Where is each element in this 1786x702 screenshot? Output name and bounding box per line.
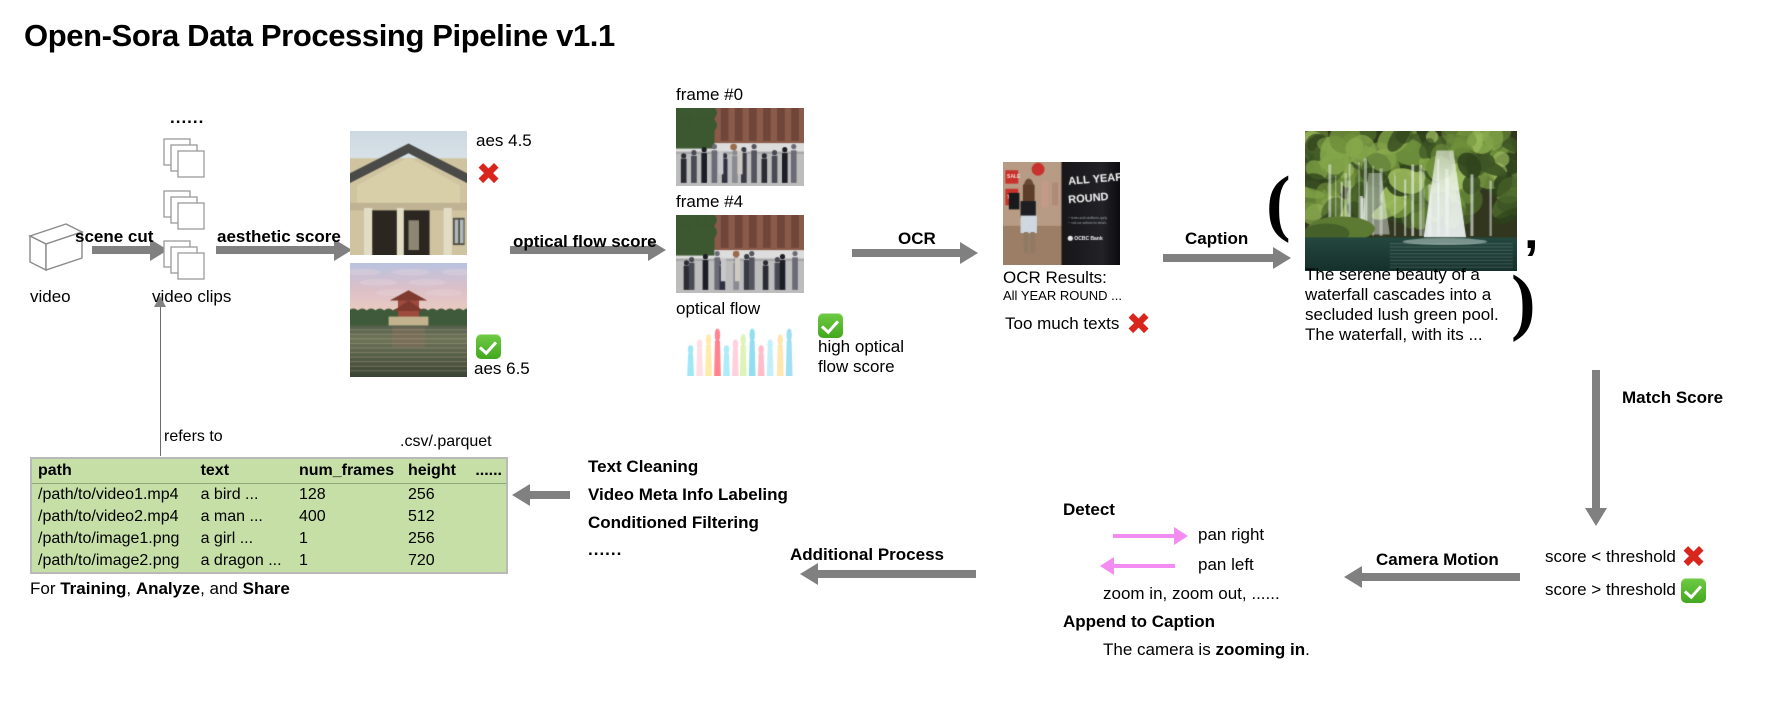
table-row[interactable]: /path/to/image1.png a girl ... 1 256 <box>32 528 506 550</box>
caption-image <box>1305 131 1517 271</box>
frame0-image <box>676 108 804 186</box>
x-mark-icon: ✖ <box>1126 310 1151 340</box>
append-prefix: The camera is <box>1103 640 1215 659</box>
optical-flow-score-label: optical flow score <box>513 232 657 252</box>
check-mark-icon <box>1681 578 1706 603</box>
footer-prefix: For <box>30 579 60 598</box>
col-path: path <box>32 459 195 484</box>
pan-left-arrow-icon <box>1113 564 1175 568</box>
cell-text: a man ... <box>195 506 293 528</box>
high-flow-label-line1: high optical <box>818 337 904 357</box>
cell-text: a bird ... <box>195 484 293 507</box>
refers-to-line <box>160 306 161 456</box>
page-title: Open-Sora Data Processing Pipeline v1.1 <box>24 18 615 54</box>
cell-height: 256 <box>402 484 469 507</box>
frame0-label: frame #0 <box>676 85 743 105</box>
cell-more <box>469 528 506 550</box>
optical-flow-visualization <box>685 320 797 376</box>
append-to-caption-heading: Append to Caption <box>1063 612 1215 632</box>
cell-num-frames: 1 <box>293 550 402 572</box>
x-mark-icon: ✖ <box>1681 543 1706 573</box>
processing-item-1: Video Meta Info Labeling <box>588 485 788 505</box>
match-score-label: Match Score <box>1622 388 1723 408</box>
x-mark-icon: ✖ <box>476 160 501 190</box>
scene-cut-arrow <box>92 246 152 254</box>
footer-sep1: , <box>126 579 135 598</box>
close-paren: ) <box>1511 265 1536 339</box>
table-header-row: path text num_frames height ...... <box>32 459 506 484</box>
cell-text: a girl ... <box>195 528 293 550</box>
cell-num-frames: 1 <box>293 528 402 550</box>
cell-height: 720 <box>402 550 469 572</box>
footer-share: Share <box>243 579 290 598</box>
caption-comma: , <box>1524 205 1538 257</box>
footer-sep2: , and <box>200 579 243 598</box>
check-mark-icon <box>476 334 501 359</box>
cell-more <box>469 550 506 572</box>
open-paren: ( <box>1266 166 1291 240</box>
caption-text-line3: secluded lush green pool. <box>1305 305 1499 325</box>
file-format-label: .csv/.parquet <box>400 433 492 451</box>
cell-num-frames: 128 <box>293 484 402 507</box>
table-row[interactable]: /path/to/video1.mp4 a bird ... 128 256 <box>32 484 506 507</box>
append-caption-sentence: The camera is zooming in. <box>1103 640 1310 660</box>
check-mark-icon <box>818 313 843 338</box>
caption-text-line2: waterfall cascades into a <box>1305 285 1491 305</box>
col-text: text <box>195 459 293 484</box>
ocr-label: OCR <box>898 229 936 249</box>
pan-right-label: pan right <box>1198 525 1264 545</box>
processing-item-2: Conditioned Filtering <box>588 513 759 533</box>
processing-item-0: Text Cleaning <box>588 457 698 477</box>
footer-training: Training <box>60 579 126 598</box>
cell-path: /path/to/video2.mp4 <box>32 506 195 528</box>
append-bold: zooming in <box>1215 640 1305 659</box>
caption-label: Caption <box>1185 229 1248 249</box>
video-clip-stack-3-icon <box>163 240 211 287</box>
video-clip-stack-1-icon <box>163 138 211 185</box>
aesthetic-image-high <box>350 263 467 377</box>
aesthetic-score-arrow <box>216 246 336 254</box>
aesthetic-score-label: aesthetic score <box>217 227 341 247</box>
frame4-image <box>676 215 804 293</box>
match-score-arrow <box>1592 370 1600 510</box>
score-below-threshold-label: score < threshold <box>1545 547 1676 567</box>
refers-to-label: refers to <box>164 428 223 446</box>
pan-right-arrow-icon <box>1113 534 1175 538</box>
metadata-table[interactable]: path text num_frames height ...... /path… <box>30 457 508 574</box>
pan-left-label: pan left <box>1198 555 1254 575</box>
caption-text-line4: The waterfall, with its ... <box>1305 325 1483 345</box>
camera-motion-more-label: zoom in, zoom out, ...... <box>1103 584 1280 604</box>
aes-high-score-label: aes 6.5 <box>474 359 530 379</box>
cell-path: /path/to/video1.mp4 <box>32 484 195 507</box>
high-flow-label-line2: flow score <box>818 357 895 377</box>
ocr-results-title: OCR Results: <box>1003 268 1107 288</box>
aesthetic-image-low <box>350 131 467 255</box>
caption-arrow <box>1163 254 1275 262</box>
video-clip-stack-2-icon <box>163 190 211 237</box>
ocr-verdict-label: Too much texts <box>1005 314 1119 334</box>
video-label: video <box>30 287 71 307</box>
col-height: height <box>402 459 469 484</box>
table-row[interactable]: /path/to/image2.png a dragon ... 1 720 <box>32 550 506 572</box>
cell-height: 512 <box>402 506 469 528</box>
col-more: ...... <box>469 459 506 484</box>
aes-low-score-label: aes 4.5 <box>476 131 532 151</box>
frame4-label: frame #4 <box>676 192 743 212</box>
ocr-results-text: All YEAR ROUND ... <box>1003 288 1122 303</box>
caption-text-line1: The serene beauty of a <box>1305 265 1480 285</box>
scene-cut-label: scene cut <box>75 227 153 247</box>
table-output-arrow <box>528 491 570 499</box>
cell-height: 256 <box>402 528 469 550</box>
camera-motion-label: Camera Motion <box>1376 550 1499 570</box>
cell-path: /path/to/image1.png <box>32 528 195 550</box>
cell-more <box>469 506 506 528</box>
detect-heading: Detect <box>1063 500 1115 520</box>
table-footer: For Training, Analyze, and Share <box>30 579 290 599</box>
additional-process-arrow <box>816 570 976 578</box>
cell-more <box>469 484 506 507</box>
ocr-image <box>1003 162 1120 265</box>
camera-motion-arrow <box>1360 573 1520 581</box>
additional-process-label: Additional Process <box>790 545 944 565</box>
ocr-arrow <box>852 249 962 257</box>
footer-analyze: Analyze <box>136 579 200 598</box>
table-row[interactable]: /path/to/video2.mp4 a man ... 400 512 <box>32 506 506 528</box>
optical-flow-label: optical flow <box>676 299 760 319</box>
clips-ellipsis: ...... <box>170 108 204 128</box>
cell-text: a dragon ... <box>195 550 293 572</box>
cell-num-frames: 400 <box>293 506 402 528</box>
processing-ellipsis: ...... <box>588 540 622 560</box>
cell-path: /path/to/image2.png <box>32 550 195 572</box>
append-suffix: . <box>1305 640 1310 659</box>
col-num-frames: num_frames <box>293 459 402 484</box>
score-above-threshold-label: score > threshold <box>1545 580 1676 600</box>
